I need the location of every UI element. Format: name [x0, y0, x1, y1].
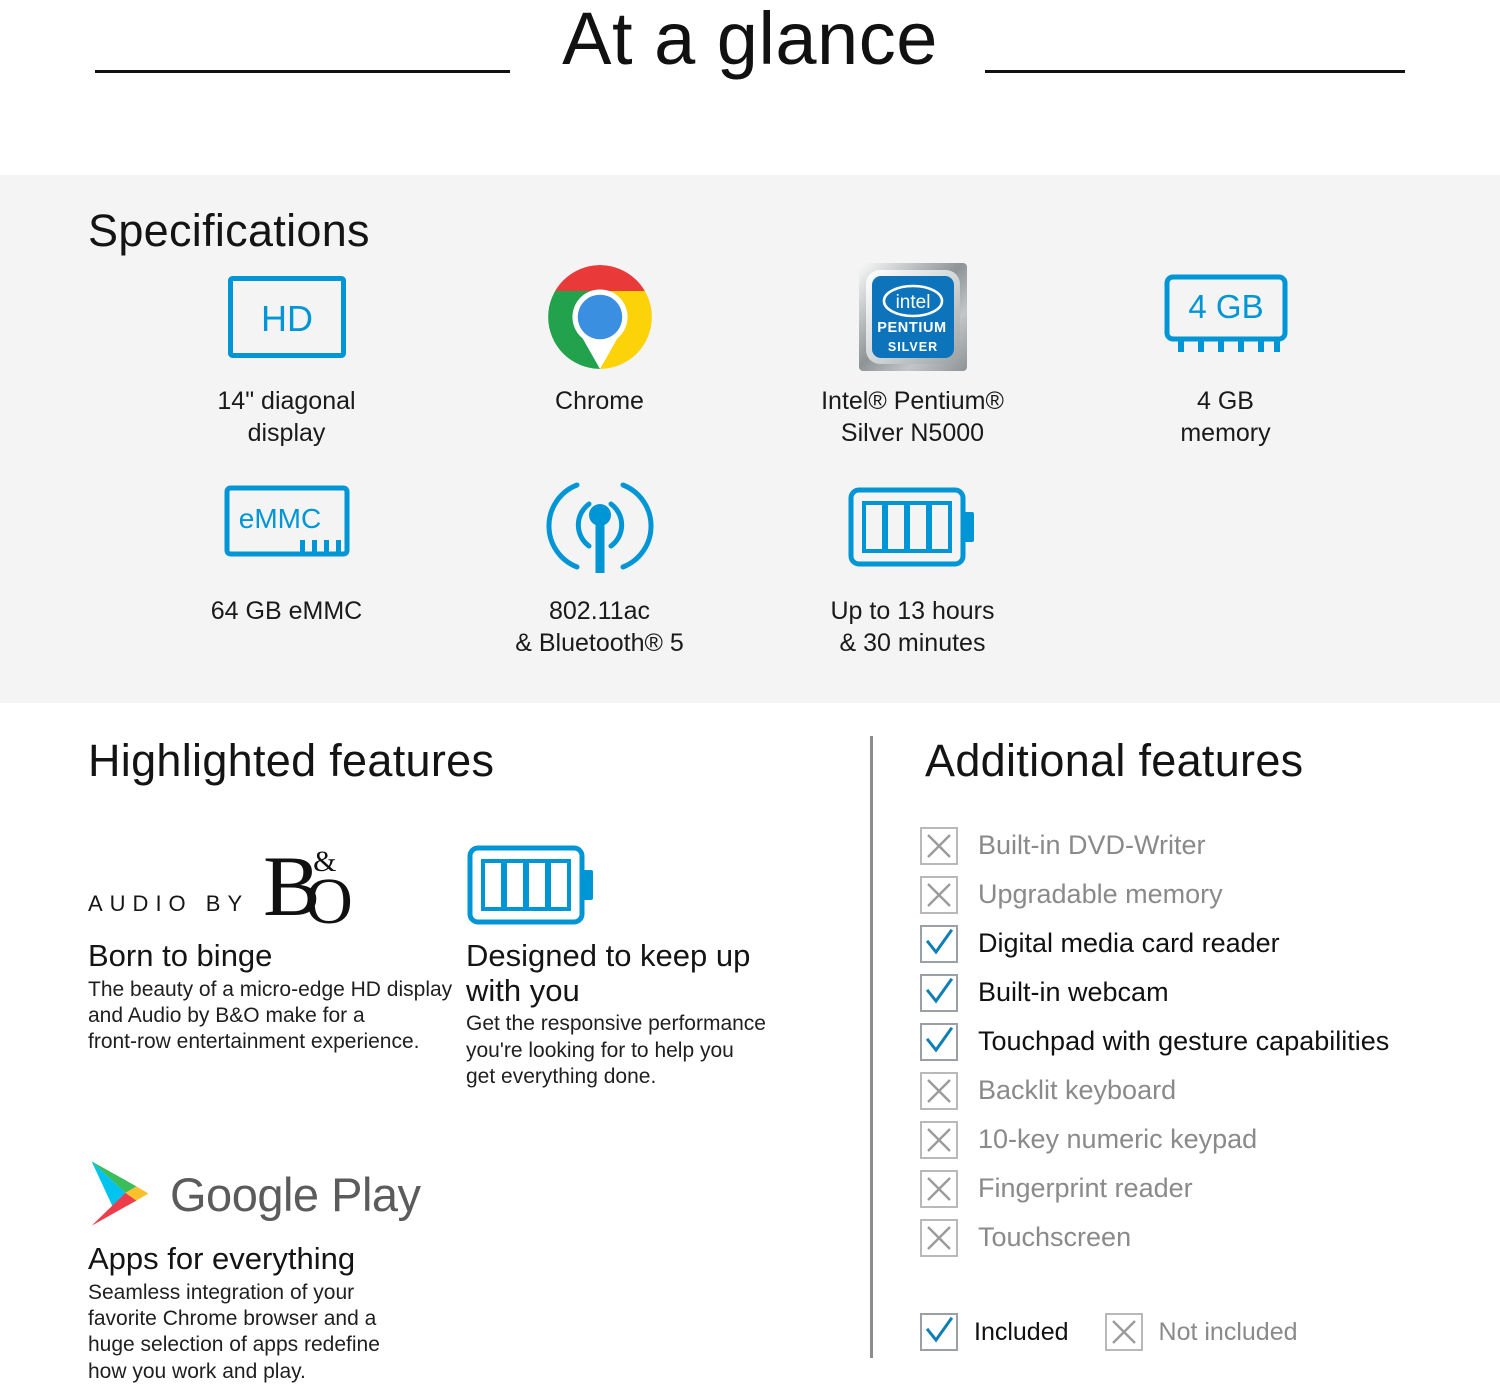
- feature-label: Built-in DVD-Writer: [978, 832, 1206, 859]
- specifications-row-1: HD 14" diagonal display: [130, 261, 1420, 449]
- legend-not-included-label: Not included: [1159, 1318, 1298, 1347]
- cross-icon: [920, 1072, 958, 1110]
- intel-pentium-silver-badge-icon: intel PENTIUM SILVER: [857, 261, 969, 373]
- cross-icon: [920, 1121, 958, 1159]
- spec-label-chrome: Chrome: [555, 385, 644, 417]
- spec-item-chrome: Chrome: [443, 261, 756, 417]
- header-rule-right: [985, 70, 1405, 73]
- feature-card-audio: AUDIO BY B & O Born to binge The beauty …: [88, 831, 466, 1090]
- cross-icon: [1105, 1313, 1143, 1351]
- feature-card-apps: Google Play Apps for everything Seamless…: [88, 1134, 466, 1385]
- svg-text:intel: intel: [895, 292, 930, 313]
- svg-text:4 GB: 4 GB: [1188, 288, 1263, 325]
- feature-heading-battery: Designed to keep up with you: [466, 939, 784, 1008]
- spec-label-battery: Up to 13 hours & 30 minutes: [831, 595, 995, 659]
- features-legend: Included Not included: [920, 1313, 1334, 1351]
- feature-label: 10-key numeric keypad: [978, 1126, 1257, 1153]
- specifications-panel: Specifications HD 14" diagonal display: [0, 175, 1500, 703]
- feature-label: Touchscreen: [978, 1224, 1131, 1251]
- check-icon: [920, 925, 958, 963]
- list-item: Backlit keyboard: [920, 1066, 1480, 1115]
- spec-item-battery: Up to 13 hours & 30 minutes: [756, 471, 1069, 659]
- feature-label: Fingerprint reader: [978, 1175, 1193, 1202]
- spec-label-storage: 64 GB eMMC: [211, 595, 362, 627]
- specifications-row-2: eMMC 64 GB eMMC: [130, 471, 1420, 659]
- feature-label: Upgradable memory: [978, 881, 1223, 908]
- page-header: At a glance: [0, 0, 1500, 175]
- cross-icon: [920, 1170, 958, 1208]
- spec-item-display: HD 14" diagonal display: [130, 261, 443, 449]
- feature-heading-audio: Born to binge: [88, 939, 466, 974]
- feature-body-battery: Get the responsive performance you're lo…: [466, 1011, 784, 1090]
- list-item: Upgradable memory: [920, 870, 1480, 919]
- legend-included-label: Included: [974, 1318, 1069, 1347]
- chrome-logo-icon: [547, 261, 653, 373]
- spec-label-display: 14" diagonal display: [217, 385, 355, 449]
- feature-heading-apps: Apps for everything: [88, 1242, 466, 1277]
- wifi-antenna-icon: [537, 471, 663, 583]
- list-item: Touchpad with gesture capabilities: [920, 1017, 1480, 1066]
- highlighted-features-title: Highlighted features: [88, 735, 494, 787]
- lower-section: Highlighted features AUDIO BY B & O Born…: [0, 703, 1500, 1394]
- memory-module-icon: 4 GB: [1164, 261, 1288, 373]
- highlighted-features-cards: AUDIO BY B & O Born to binge The beauty …: [88, 831, 818, 1385]
- emmc-storage-icon: eMMC: [222, 471, 352, 583]
- bo-letter-o: O: [305, 869, 353, 935]
- spec-item-storage: eMMC 64 GB eMMC: [130, 471, 443, 627]
- spec-label-memory: 4 GB memory: [1180, 385, 1270, 449]
- svg-text:HD: HD: [261, 298, 313, 339]
- specifications-title: Specifications: [88, 205, 370, 257]
- feature-label: Built-in webcam: [978, 979, 1169, 1006]
- highlighted-features-row-2: Google Play Apps for everything Seamless…: [88, 1134, 818, 1385]
- google-play-triangle-icon: [88, 1159, 152, 1229]
- svg-text:SILVER: SILVER: [887, 340, 937, 354]
- battery-icon: [466, 831, 784, 927]
- specifications-grid: HD 14" diagonal display: [130, 261, 1420, 659]
- spec-label-processor: Intel® Pentium® Silver N5000: [821, 385, 1004, 449]
- feature-label: Backlit keyboard: [978, 1077, 1176, 1104]
- audio-by-bang-olufsen-logo: AUDIO BY B & O: [88, 831, 466, 927]
- page-title: At a glance: [0, 0, 1500, 81]
- svg-text:PENTIUM: PENTIUM: [877, 320, 946, 336]
- battery-icon: [848, 471, 978, 583]
- feature-body-audio: The beauty of a micro-edge HD display an…: [88, 977, 466, 1056]
- spec-item-wireless: 802.11ac & Bluetooth® 5: [443, 471, 756, 659]
- additional-features-title: Additional features: [925, 735, 1303, 787]
- highlighted-features-row-1: AUDIO BY B & O Born to binge The beauty …: [88, 831, 818, 1090]
- google-play-wordmark: Google Play: [170, 1167, 421, 1222]
- feature-body-apps: Seamless integration of your favorite Ch…: [88, 1280, 466, 1385]
- cross-icon: [920, 827, 958, 865]
- spec-label-wireless: 802.11ac & Bluetooth® 5: [515, 595, 684, 659]
- google-play-logo: Google Play: [88, 1134, 466, 1230]
- list-item: Digital media card reader: [920, 919, 1480, 968]
- spec-item-processor: intel PENTIUM SILVER Intel® Pentium® Sil…: [756, 261, 1069, 449]
- section-divider: [870, 736, 873, 1358]
- feature-label: Touchpad with gesture capabilities: [978, 1028, 1389, 1055]
- list-item: Touchscreen: [920, 1213, 1480, 1262]
- feature-card-battery: Designed to keep up with you Get the res…: [466, 831, 784, 1090]
- cross-icon: [920, 876, 958, 914]
- additional-features-list: Built-in DVD-Writer Upgradable memory Di…: [920, 821, 1480, 1262]
- check-icon: [920, 974, 958, 1012]
- bang-olufsen-mark: B & O: [263, 849, 355, 927]
- hd-display-icon: HD: [228, 261, 346, 373]
- spec-item-memory: 4 GB 4 GB memory: [1069, 261, 1382, 449]
- list-item: Built-in webcam: [920, 968, 1480, 1017]
- feature-label: Digital media card reader: [978, 930, 1280, 957]
- list-item: Built-in DVD-Writer: [920, 821, 1480, 870]
- svg-text:eMMC: eMMC: [238, 503, 320, 534]
- list-item: Fingerprint reader: [920, 1164, 1480, 1213]
- list-item: 10-key numeric keypad: [920, 1115, 1480, 1164]
- cross-icon: [920, 1219, 958, 1257]
- check-icon: [920, 1313, 958, 1351]
- check-icon: [920, 1023, 958, 1061]
- audio-by-text: AUDIO BY: [88, 891, 249, 927]
